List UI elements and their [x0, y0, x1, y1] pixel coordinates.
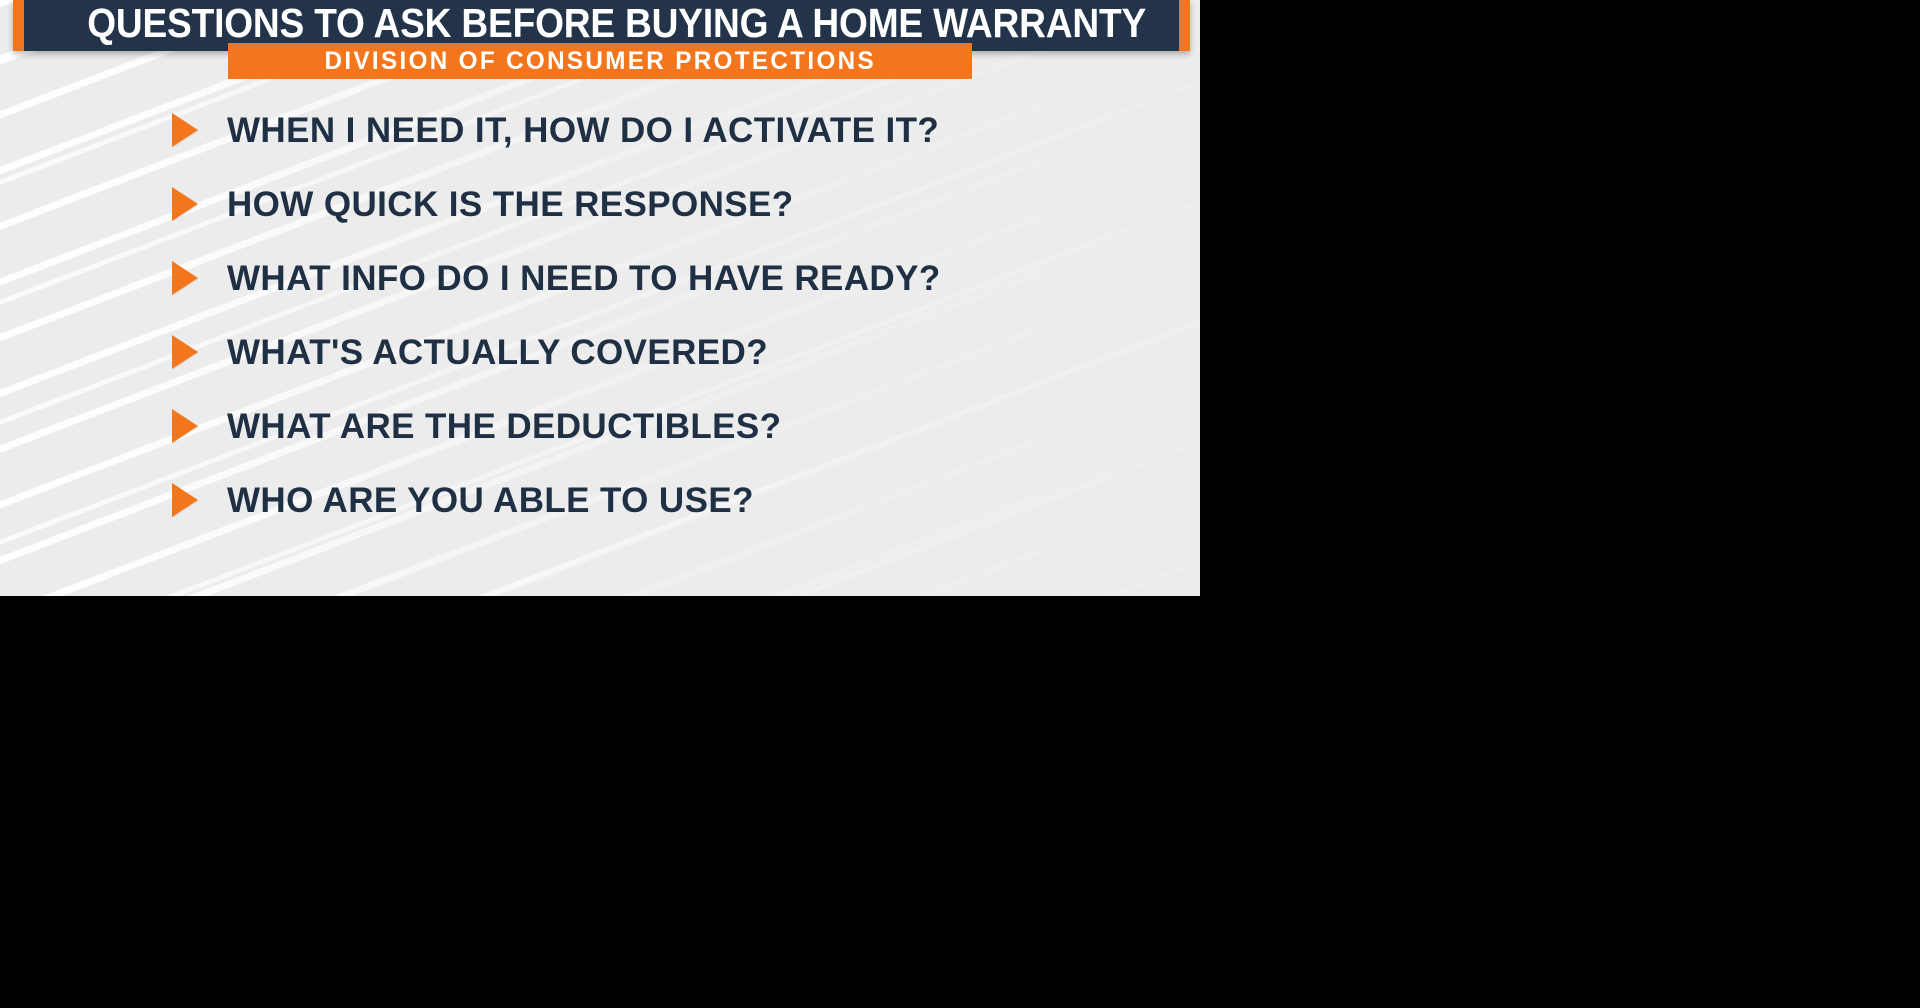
triangle-right-icon [172, 335, 198, 369]
list-item: WHAT INFO DO I NEED TO HAVE READY? [0, 241, 1200, 315]
list-item-label: WHAT INFO DO I NEED TO HAVE READY? [227, 261, 941, 296]
header-accent-right [1179, 0, 1190, 51]
list-item-label: WHAT ARE THE DEDUCTIBLES? [227, 409, 781, 444]
triangle-right-icon [172, 409, 198, 443]
list-item-label: WHO ARE YOU ABLE TO USE? [227, 483, 754, 518]
triangle-right-icon [172, 261, 198, 295]
triangle-right-icon [172, 187, 198, 221]
list-item: WHAT'S ACTUALLY COVERED? [0, 315, 1200, 389]
triangle-right-icon [172, 113, 198, 147]
content-panel: QUESTIONS TO ASK BEFORE BUYING A HOME WA… [0, 0, 1200, 596]
list-item-label: WHAT'S ACTUALLY COVERED? [227, 335, 768, 370]
subtitle-bar: DIVISION OF CONSUMER PROTECTIONS [228, 43, 972, 79]
list-item: WHAT ARE THE DEDUCTIBLES? [0, 389, 1200, 463]
header-accent-left [13, 0, 24, 51]
list-item: WHEN I NEED IT, HOW DO I ACTIVATE IT? [0, 93, 1200, 167]
list-item-label: WHEN I NEED IT, HOW DO I ACTIVATE IT? [227, 113, 939, 148]
list-item: WHO ARE YOU ABLE TO USE? [0, 463, 1200, 537]
subtitle-text: DIVISION OF CONSUMER PROTECTIONS [324, 47, 875, 76]
broadcast-graphic-root: QUESTIONS TO ASK BEFORE BUYING A HOME WA… [0, 0, 1920, 1008]
list-item: HOW QUICK IS THE RESPONSE? [0, 167, 1200, 241]
triangle-right-icon [172, 483, 198, 517]
list-item-label: HOW QUICK IS THE RESPONSE? [227, 187, 794, 222]
question-list: WHEN I NEED IT, HOW DO I ACTIVATE IT? HO… [0, 93, 1200, 537]
